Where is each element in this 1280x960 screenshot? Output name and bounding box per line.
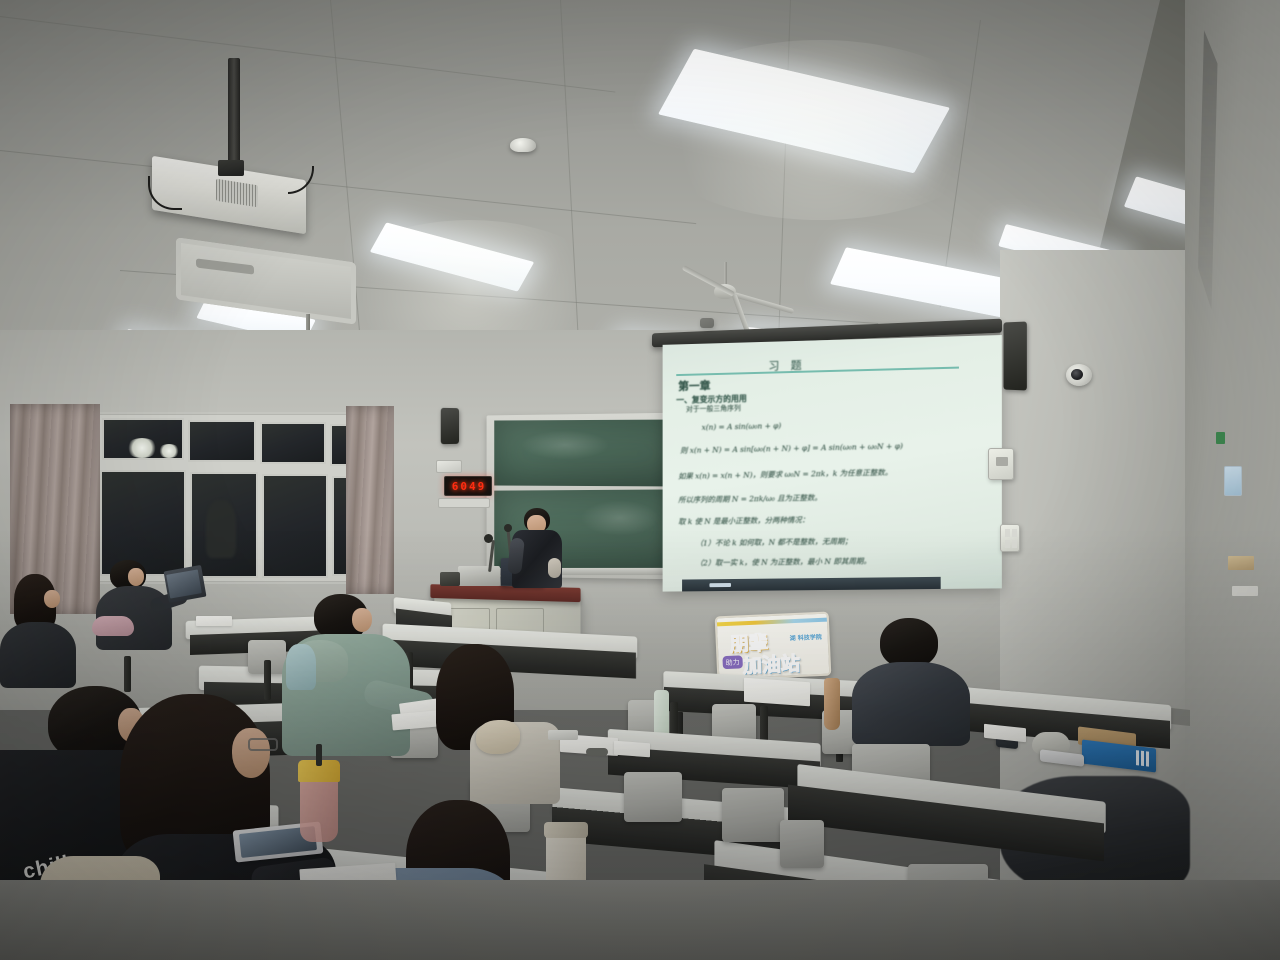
wall-speaker [700, 318, 714, 328]
projector-bracket [218, 160, 244, 176]
slide-line: 取 k 使 N 是最小正整数，分两种情况： [678, 514, 809, 527]
projector-mount-pole [228, 58, 240, 176]
poster-top-strip [717, 618, 827, 627]
student-face [44, 590, 60, 608]
student-face [352, 608, 372, 632]
white-papers [984, 724, 1026, 742]
window-pane-main [100, 470, 186, 576]
chair-post [124, 656, 131, 692]
wall-plate-small [1232, 586, 1258, 596]
light-switch-panel[interactable] [1000, 524, 1020, 552]
projection-screen: 习 题 第一章 一、复变示方的用用 对于一般三角序列 x(n) = A sin(… [663, 335, 1002, 592]
wall-card-holder [1228, 556, 1254, 570]
chair-back[interactable] [624, 772, 682, 822]
desk-papers [196, 616, 232, 626]
camera-lens [1071, 369, 1083, 380]
chair-back[interactable] [780, 820, 824, 868]
poster-logo: 湖 科技学院 [789, 632, 821, 642]
notebook-papers [744, 678, 810, 707]
pencil-case [548, 730, 578, 740]
slide-sub: 对于一般三角序列 [686, 403, 741, 414]
curtain-right [346, 406, 394, 594]
chalk-smudge [520, 430, 610, 460]
control-panel-display [996, 457, 1008, 466]
wall-speaker [1003, 322, 1026, 391]
wall-speaker [441, 408, 459, 444]
drink-straw [316, 744, 322, 766]
led-digit: 4 [469, 480, 476, 493]
light-switch[interactable] [1012, 540, 1017, 548]
window-light-reflection [126, 438, 158, 458]
led-digit: 0 [460, 480, 467, 493]
slide-header: 习 题 [768, 357, 805, 374]
chalk-smudge [580, 500, 660, 536]
instructor-hand [548, 558, 561, 578]
student-face [232, 728, 270, 778]
student-face [128, 568, 144, 586]
floor [0, 880, 1280, 960]
slide-line: （1）不论 k 如何取，N 都不是整数，无周期； [696, 536, 852, 549]
light-switch[interactable] [1005, 540, 1010, 548]
wall-control-panel[interactable] [988, 448, 1014, 480]
yellow-drink-cup [300, 776, 338, 842]
light-switch[interactable] [1012, 529, 1017, 537]
microphone-head [484, 534, 493, 543]
window-person-silhouette [206, 500, 236, 558]
exit-sign [1216, 432, 1225, 444]
classroom-led-clock: 6 0 4 9 [444, 476, 492, 496]
student-torso [0, 622, 76, 688]
wall-notice-sign [1224, 466, 1242, 496]
student-torso [852, 662, 970, 746]
chair-post [264, 660, 271, 700]
desk-papers [614, 741, 650, 758]
slide-chapter: 第一章 [678, 377, 710, 394]
pink-bag [92, 616, 134, 636]
peer-support-poster: 朋辈 加油站 助力 湖 科技学院 [715, 612, 832, 681]
classroom-scene: 习 题 第一章 一、复变示方的用用 对于一般三角序列 x(n) = A sin(… [0, 0, 1280, 960]
poster-title-line2: 加油站 [742, 649, 800, 678]
eyeglasses-on-desk [586, 748, 608, 756]
led-digit: 9 [478, 480, 485, 493]
slide-top-rule [676, 367, 959, 377]
slide-line: 如果 x(n) = x(n + N)，则要求 ω₀N = 2πk，k 为任意正整… [678, 467, 892, 482]
chair-back[interactable] [722, 788, 784, 842]
podium-control-console[interactable] [458, 566, 500, 586]
student-head [880, 618, 938, 668]
led-digit: 6 [452, 480, 459, 493]
teal-hood [286, 644, 316, 690]
window-pane-transom [260, 422, 326, 464]
slide-taskbar-item [709, 583, 731, 587]
glasses [248, 738, 278, 751]
slide-line: （2）取一实 k，使 N 为正整数，最小 N 即其周期。 [696, 556, 871, 569]
window-pane-transom [188, 420, 256, 462]
wall-label-plate [438, 498, 490, 508]
wooden-tumbler [824, 678, 840, 730]
window-light-reflection [158, 444, 180, 458]
box-graphic [1136, 750, 1150, 767]
light-switch[interactable] [1005, 529, 1010, 537]
dome-security-camera [510, 138, 536, 152]
dome-security-camera [1066, 364, 1092, 386]
wall-info-plate [436, 460, 462, 473]
microphone-head [504, 524, 512, 532]
hair-bow [476, 720, 520, 754]
podium-equipment [440, 572, 460, 586]
slide-line: x(n) = A sin(ω₀n + φ) [702, 421, 782, 432]
thermos-lid [544, 822, 588, 838]
window-pane-main [262, 474, 328, 578]
slide-line: 则 x(n + N) = A sin[ω₀(n + N) + φ] = A si… [680, 440, 903, 456]
poster-badge: 助力 [722, 655, 743, 669]
slide-line: 所以序列的周期 N = 2πk/ω₀ 且为正整数。 [678, 492, 822, 505]
